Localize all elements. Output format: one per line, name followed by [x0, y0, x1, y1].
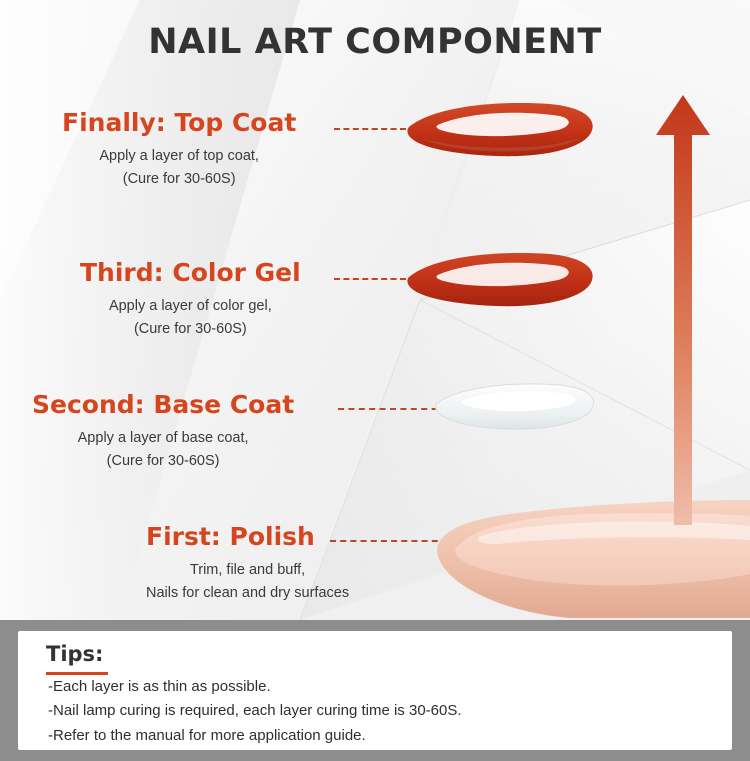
step-top-coat: Finally: Top Coat Apply a layer of top c… [62, 108, 296, 191]
step-color-gel-line-1: Apply a layer of color gel, [80, 295, 301, 318]
step-polish-heading: First: Polish [146, 522, 349, 551]
step-color-gel: Third: Color Gel Apply a layer of color … [80, 258, 301, 341]
tips-line-1: -Each layer is as thin as possible. [48, 675, 708, 699]
page-title: NAIL ART COMPONENT [0, 22, 750, 62]
step-base-coat: Second: Base Coat Apply a layer of base … [32, 390, 294, 473]
step-color-gel-description: Apply a layer of color gel, (Cure for 30… [80, 295, 301, 341]
color-gel-nail [400, 248, 600, 318]
tips-panel: Tips: -Each layer is as thin as possible… [0, 620, 750, 761]
upward-arrow [656, 95, 710, 525]
tips-card: Tips: -Each layer is as thin as possible… [18, 631, 732, 750]
step-top-coat-line-1: Apply a layer of top coat, [62, 145, 296, 168]
step-base-coat-line-1: Apply a layer of base coat, [32, 427, 294, 450]
tips-list: -Each layer is as thin as possible. -Nai… [48, 675, 708, 748]
step-base-coat-description: Apply a layer of base coat, (Cure for 30… [32, 427, 294, 473]
step-top-coat-description: Apply a layer of top coat, (Cure for 30-… [62, 145, 296, 191]
connector-dash-top-coat [334, 128, 406, 130]
step-polish-line-1: Trim, file and buff, [146, 559, 349, 582]
tips-line-2: -Nail lamp curing is required, each laye… [48, 699, 708, 723]
step-color-gel-line-2: (Cure for 30-60S) [80, 318, 301, 341]
top-coat-nail [400, 98, 600, 168]
step-polish: First: Polish Trim, file and buff, Nails… [146, 522, 349, 605]
step-color-gel-heading: Third: Color Gel [80, 258, 301, 287]
step-base-coat-heading: Second: Base Coat [32, 390, 294, 419]
step-top-coat-heading: Finally: Top Coat [62, 108, 296, 137]
step-base-coat-line-2: (Cure for 30-60S) [32, 450, 294, 473]
connector-dash-color-gel [334, 278, 406, 280]
step-polish-description: Trim, file and buff, Nails for clean and… [146, 559, 349, 605]
tips-line-3: -Refer to the manual for more applicatio… [48, 724, 708, 748]
tips-title: Tips: [46, 642, 103, 666]
infographic-page: NAIL ART COMPONENT Finally: Top Coat App… [0, 0, 750, 761]
step-top-coat-line-2: (Cure for 30-60S) [62, 168, 296, 191]
step-polish-line-2: Nails for clean and dry surfaces [146, 582, 349, 605]
base-coat-nail [430, 378, 600, 440]
